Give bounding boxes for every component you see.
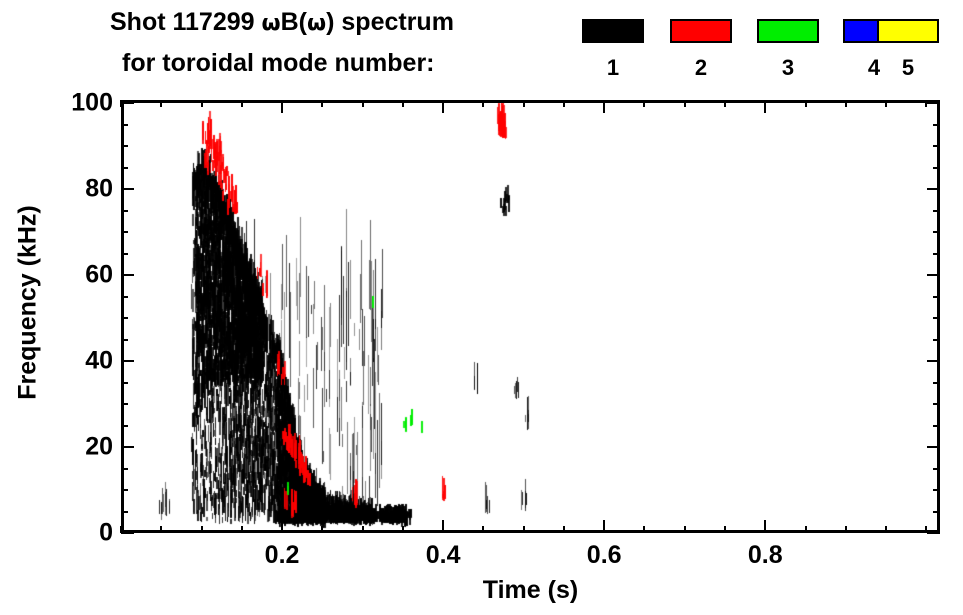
spectrogram-figure: Shot 117299 ωB(ω) spectrum for toroidal … [0,0,963,615]
y-tick-label: 20 [85,433,113,462]
x-axis-title: Time (s) [0,576,963,605]
y-tick-label: 60 [85,261,113,290]
x-axis-title-text: Time (s) [483,576,578,604]
y-tick-labels: 020406080100 [0,0,963,615]
y-tick-label: 80 [85,175,113,204]
y-axis-title: Frequency (kHz) [14,153,43,453]
y-tick-label: 40 [85,347,113,376]
y-tick-label: 0 [99,519,113,548]
y-tick-label: 100 [71,89,113,118]
